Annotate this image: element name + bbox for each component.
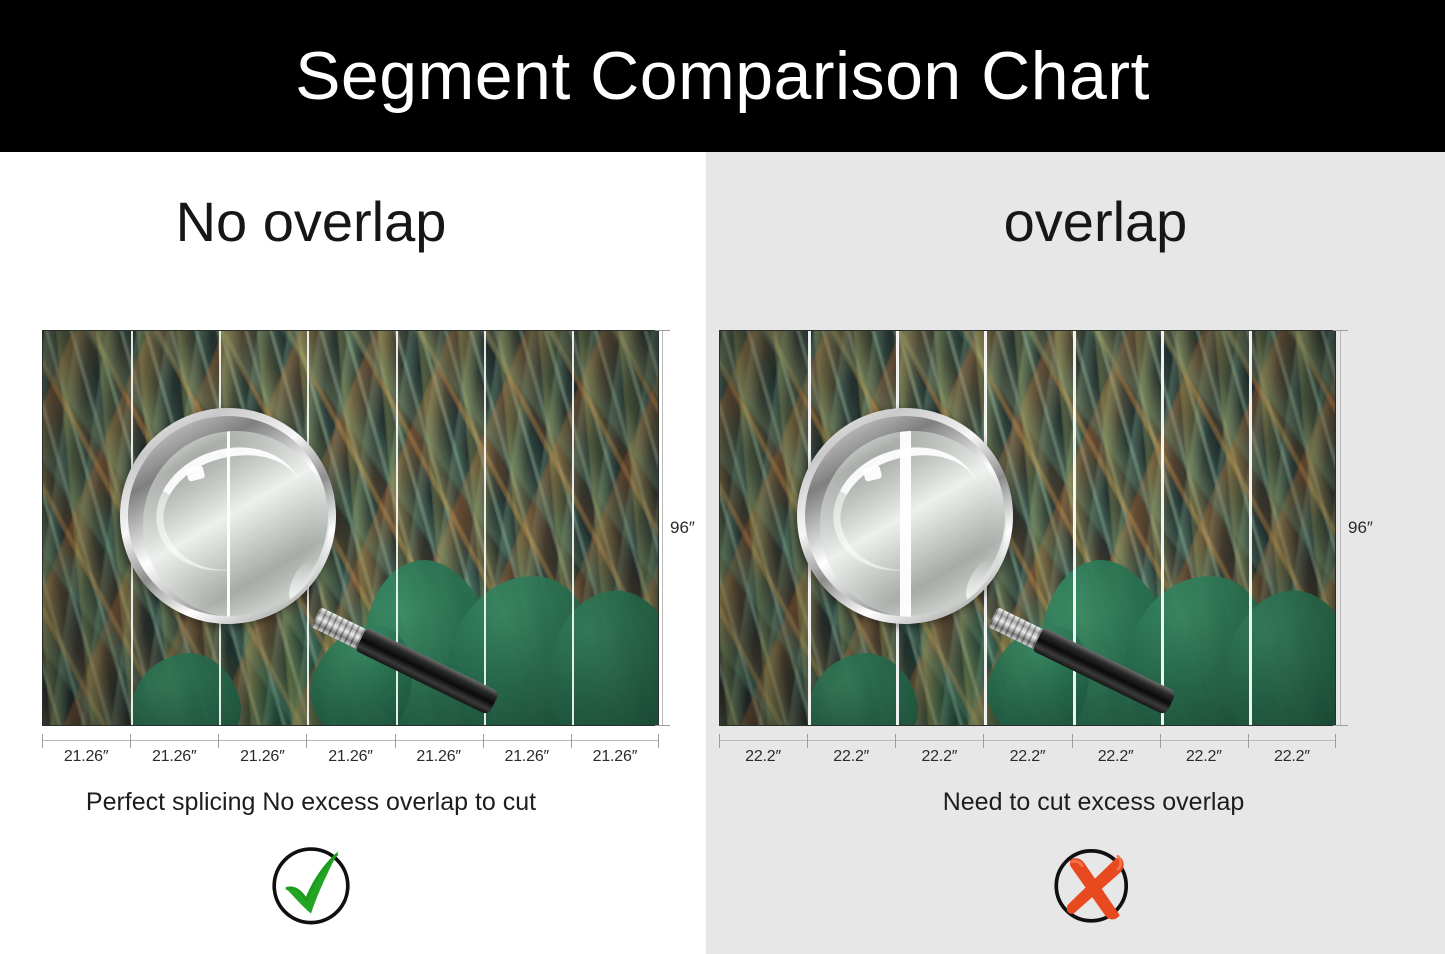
segment-divider (484, 331, 486, 725)
panel-heading-overlap: overlap (726, 194, 1445, 250)
mural-no-overlap (42, 330, 659, 726)
segment-width-labels: 22.2″ 22.2″ 22.2″ 22.2″ 22.2″ 22.2″ 22.2… (719, 748, 1336, 766)
panel-heading-no-overlap: No overlap (0, 194, 664, 250)
dimension-line (662, 330, 663, 726)
dimension-tick (658, 734, 659, 748)
segment-width-label: 21.26″ (218, 748, 306, 766)
green-check-icon (265, 838, 357, 930)
segment-width-label: 22.2″ (1160, 748, 1248, 766)
title-banner: Segment Comparison Chart (0, 0, 1445, 152)
height-label: 96″ (1348, 518, 1373, 538)
comparison-chart-page: Segment Comparison Chart No overlap (0, 0, 1445, 954)
dimension-tick (218, 734, 219, 748)
segment-width-label: 22.2″ (983, 748, 1071, 766)
dimension-tick (306, 734, 307, 748)
segment-divider-lines (720, 331, 1335, 725)
mural-artwork (719, 330, 1336, 726)
verdict-no-overlap (0, 838, 664, 930)
segment-width-label: 22.2″ (807, 748, 895, 766)
dimension-tick (483, 734, 484, 748)
panel-no-overlap: No overlap (0, 152, 706, 954)
segment-divider (219, 331, 221, 725)
mural-overlap (719, 330, 1336, 726)
caption-overlap: Need to cut excess overlap (724, 788, 1445, 817)
segment-divider (396, 331, 398, 725)
segment-divider (131, 331, 133, 725)
segment-width-label: 22.2″ (719, 748, 807, 766)
dimension-tick (1335, 734, 1336, 748)
segment-divider (808, 331, 811, 725)
dimension-tick (571, 734, 572, 748)
mural-artwork (42, 330, 659, 726)
verdict-overlap (724, 838, 1445, 930)
segment-width-label: 21.26″ (306, 748, 394, 766)
segment-width-label: 21.26″ (483, 748, 571, 766)
segment-width-label: 21.26″ (130, 748, 218, 766)
dimension-tick (42, 734, 43, 748)
dimension-cap (1333, 725, 1348, 726)
segment-divider (1249, 331, 1252, 725)
segment-divider (307, 331, 309, 725)
segment-divider (896, 331, 899, 725)
segment-width-label: 22.2″ (1072, 748, 1160, 766)
segment-width-label: 21.26″ (42, 748, 130, 766)
dimension-tick (130, 734, 131, 748)
segment-divider-lines (43, 331, 658, 725)
dimension-tick (895, 734, 896, 748)
segment-width-label: 22.2″ (895, 748, 983, 766)
dimension-line (719, 740, 1336, 741)
dimension-cap (655, 330, 670, 331)
segment-width-labels: 21.26″ 21.26″ 21.26″ 21.26″ 21.26″ 21.26… (42, 748, 659, 766)
caption-no-overlap: Perfect splicing No excess overlap to cu… (0, 788, 664, 817)
segment-width-label: 21.26″ (571, 748, 659, 766)
comparison-panels: No overlap (0, 152, 1445, 954)
dimension-tick (395, 734, 396, 748)
height-label: 96″ (670, 518, 695, 538)
segment-divider (572, 331, 574, 725)
dimension-tick (807, 734, 808, 748)
panel-overlap: overlap (706, 152, 1445, 954)
page-title: Segment Comparison Chart (295, 42, 1150, 110)
dimension-line (1340, 330, 1341, 726)
dimension-tick (983, 734, 984, 748)
dimension-tick (719, 734, 720, 748)
segment-width-label: 21.26″ (395, 748, 483, 766)
segment-width-label: 22.2″ (1248, 748, 1336, 766)
red-cross-icon (1048, 838, 1140, 930)
segment-divider (1073, 331, 1076, 725)
dimension-tick (1160, 734, 1161, 748)
segment-divider (984, 331, 987, 725)
dimension-line (42, 740, 659, 741)
segment-divider (1161, 331, 1164, 725)
dimension-tick (1248, 734, 1249, 748)
dimension-cap (655, 725, 670, 726)
dimension-tick (1072, 734, 1073, 748)
dimension-cap (1333, 330, 1348, 331)
